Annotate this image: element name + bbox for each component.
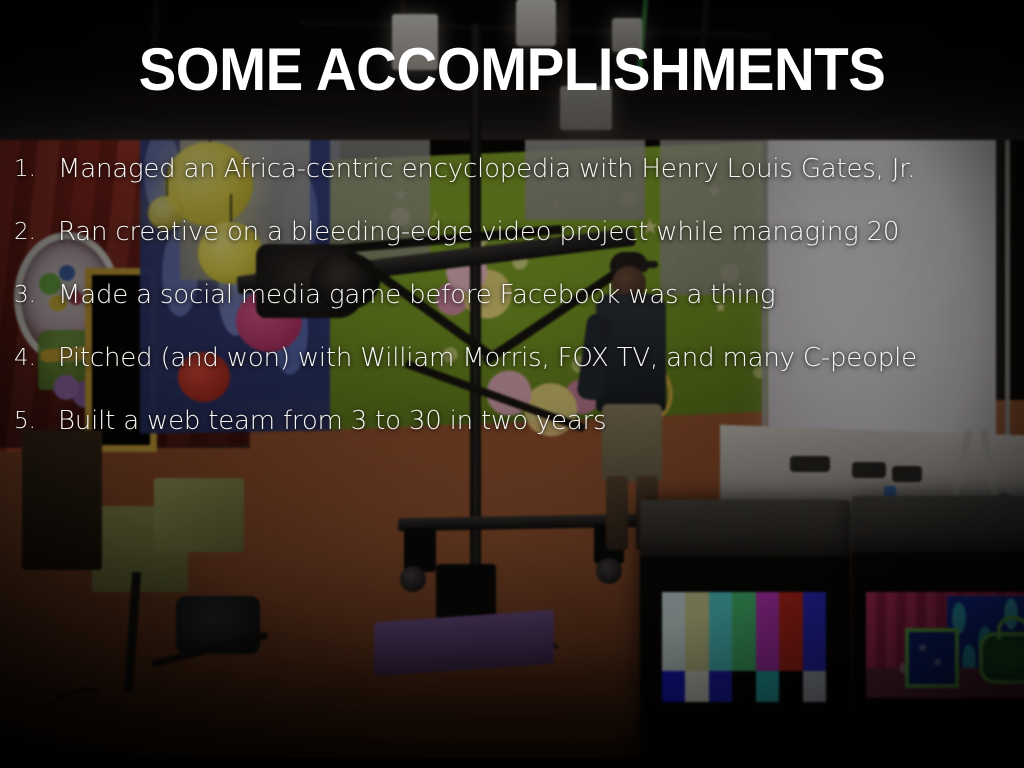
list-item-number: 2. bbox=[0, 215, 58, 249]
list-item: 2. Ran creative on a bleeding-edge video… bbox=[0, 215, 1024, 278]
presentation-slide: ★ ★ ★ ★ ★ ★ ★ ★ ♪ ♫ ♪ ♫ ♪ bbox=[0, 0, 1024, 768]
list-item-text: Managed an Africa-centric encyclopedia w… bbox=[58, 152, 915, 186]
list-item-number: 1. bbox=[0, 152, 58, 186]
list-item: 3. Made a social media game before Faceb… bbox=[0, 278, 1024, 341]
slide-title: SOME ACCOMPLISHMENTS bbox=[31, 40, 994, 100]
list-item-text: Pitched (and won) with William Morris, F… bbox=[58, 341, 917, 375]
list-item-number: 5. bbox=[0, 404, 58, 438]
list-item: 1. Managed an Africa-centric encyclopedi… bbox=[0, 152, 1024, 215]
list-item-number: 3. bbox=[0, 278, 58, 312]
list-item-text: Made a social media game before Facebook… bbox=[58, 278, 775, 312]
list-item-text: Built a web team from 3 to 30 in two yea… bbox=[58, 404, 606, 438]
list-item: 5. Built a web team from 3 to 30 in two … bbox=[0, 404, 1024, 467]
list-item-number: 4. bbox=[0, 341, 58, 375]
slide-content: SOME ACCOMPLISHMENTS 1. Managed an Afric… bbox=[0, 0, 1024, 768]
list-item: 4. Pitched (and won) with William Morris… bbox=[0, 341, 1024, 404]
accomplishments-list: 1. Managed an Africa-centric encyclopedi… bbox=[0, 152, 1024, 467]
list-item-text: Ran creative on a bleeding-edge video pr… bbox=[58, 215, 899, 249]
